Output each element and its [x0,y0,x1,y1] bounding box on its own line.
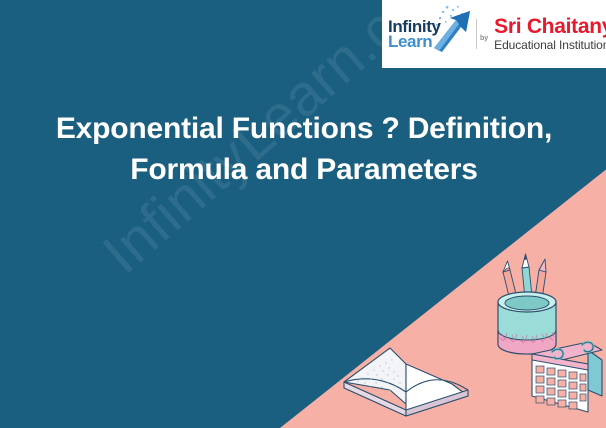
infinity-learn-logo: Infinity Learn [382,0,474,68]
brand-tagline-text: Educational Institutions [494,38,606,52]
page-title: Exponential Functions ? Definition, Form… [26,108,582,190]
page-title-line-2: Formula and Parameters [26,149,582,190]
brand-name-text: Sri Chaitanya [494,16,606,38]
desk-calendar-illustration [530,330,606,414]
infinity-arrow-icon [426,4,474,56]
logo-card[interactable]: Infinity Learn by [382,0,606,68]
logo-by-text: by [477,35,491,42]
page-title-line-1: Exponential Functions ? Definition, [26,108,582,149]
banner-graphic: InfinityLearn.com Infinity Learn [0,0,606,428]
open-book-illustration [340,336,472,422]
sri-chaitanya-logo: Sri Chaitanya Educational Institutions [491,16,606,52]
